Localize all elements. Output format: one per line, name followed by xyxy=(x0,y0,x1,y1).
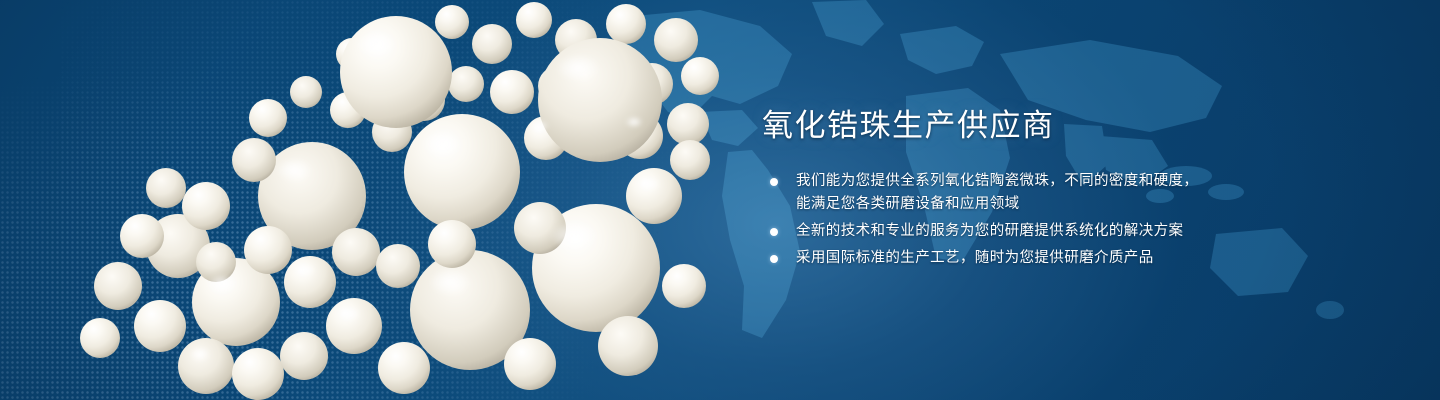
bullet-dot-icon xyxy=(770,228,778,236)
list-item: 全新的技术和专业的服务为您的研磨提供系统化的解决方案 xyxy=(768,220,1238,243)
list-item-line: 全新的技术和专业的服务为您的研磨提供系统化的解决方案 xyxy=(796,220,1238,243)
list-item-line: 能满足您各类研磨设备和应用领域 xyxy=(796,193,1238,216)
bullet-dot-icon xyxy=(770,178,778,186)
banner-copy: 氧化锆珠生产供应商 我们能为您提供全系列氧化锆陶瓷微珠，不同的密度和硬度， 能满… xyxy=(762,0,1362,400)
feature-list: 我们能为您提供全系列氧化锆陶瓷微珠，不同的密度和硬度， 能满足您各类研磨设备和应… xyxy=(768,170,1238,274)
page-title: 氧化锆珠生产供应商 xyxy=(762,108,1055,144)
bullet-dot-icon xyxy=(770,255,778,263)
hero-banner: 氧化锆珠生产供应商 我们能为您提供全系列氧化锆陶瓷微珠，不同的密度和硬度， 能满… xyxy=(0,0,1440,400)
list-item: 采用国际标准的生产工艺，随时为您提供研磨介质产品 xyxy=(768,247,1238,270)
list-item-line: 采用国际标准的生产工艺，随时为您提供研磨介质产品 xyxy=(796,247,1238,270)
zirconia-beads-image xyxy=(0,0,760,400)
list-item-line: 我们能为您提供全系列氧化锆陶瓷微珠，不同的密度和硬度， xyxy=(796,170,1238,193)
list-item: 我们能为您提供全系列氧化锆陶瓷微珠，不同的密度和硬度， 能满足您各类研磨设备和应… xyxy=(768,170,1238,216)
